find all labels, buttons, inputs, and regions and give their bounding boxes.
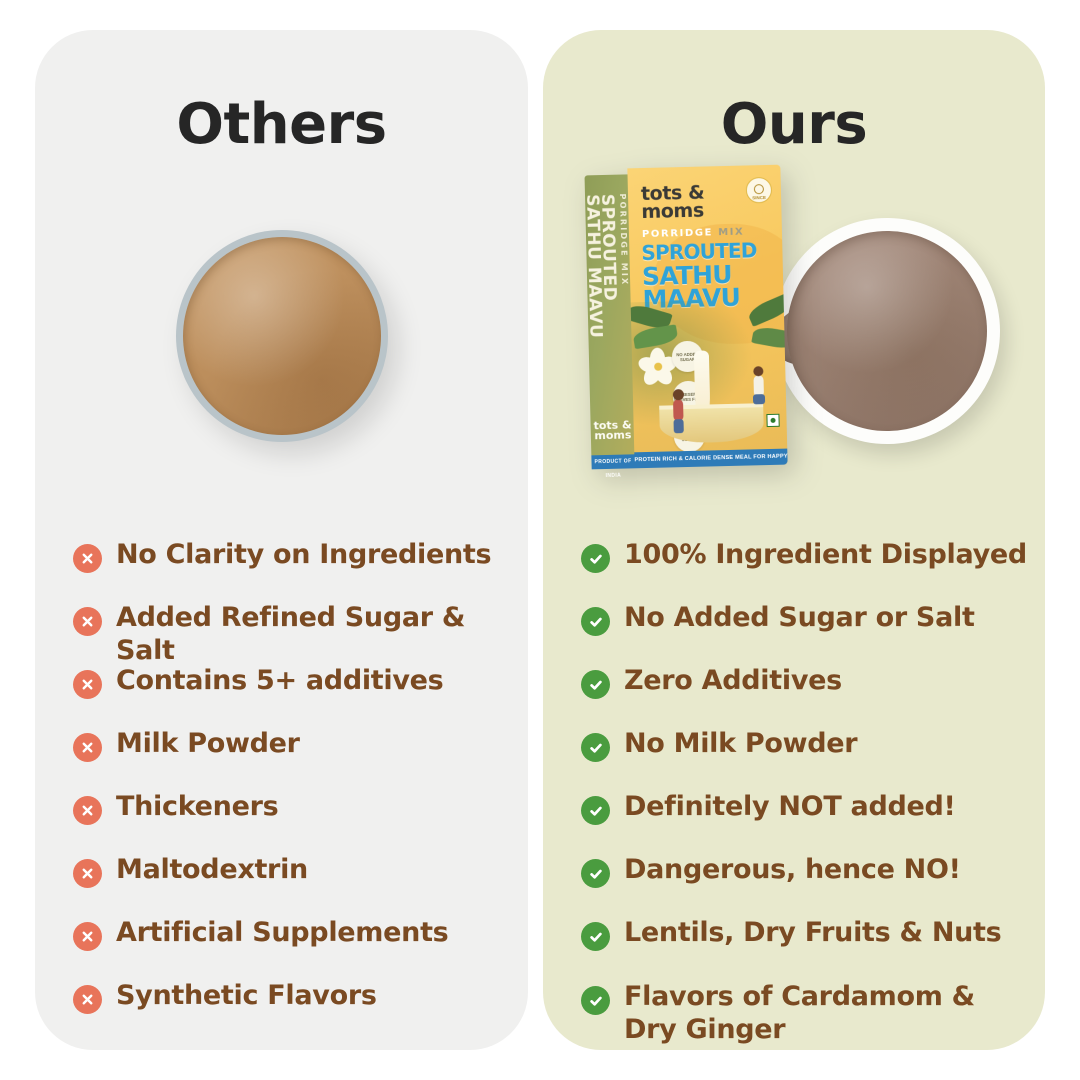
- spine-line2: SATHU MAAVU: [582, 194, 606, 339]
- cross-icon: [73, 670, 102, 699]
- spine-title: PORRIDGE MIX SPROUTED SATHU MAAVU: [584, 193, 635, 394]
- cross-icon: [73, 922, 102, 951]
- vegetarian-mark-icon: [766, 414, 779, 427]
- list-item: Milk Powder: [73, 727, 528, 790]
- list-item-label: Lentils, Dry Fruits & Nuts: [624, 916, 1001, 949]
- porridge-texture: [183, 237, 381, 435]
- list-item: 100% Ingredient Displayed: [581, 538, 1045, 601]
- list-item: Dangerous, hence NO!: [581, 853, 1045, 916]
- list-item: Zero Additives: [581, 664, 1045, 727]
- list-item: Lentils, Dry Fruits & Nuts: [581, 916, 1045, 979]
- list-item: Artificial Supplements: [73, 916, 528, 979]
- list-item-label: Thickeners: [116, 790, 278, 823]
- brand-logo: tots & moms: [641, 184, 705, 222]
- heritage-seal-icon: SINCE: [746, 177, 773, 204]
- others-feature-list: No Clarity on Ingredients Added Refined …: [35, 538, 528, 1042]
- package-front-face: tots & moms SINCE PORRIDGE MIX SPROUTED …: [627, 165, 787, 469]
- list-item-label: Added Refined Sugar & Salt: [116, 601, 528, 667]
- bowl-top-view: [176, 230, 388, 442]
- list-item: Thickeners: [73, 790, 528, 853]
- cross-icon: [73, 544, 102, 573]
- served-porridge-bowl: [774, 218, 1000, 444]
- list-item-label: No Clarity on Ingredients: [116, 538, 491, 571]
- cross-icon: [73, 607, 102, 636]
- check-icon: [581, 733, 610, 762]
- porridge-swirl: [808, 234, 974, 392]
- cross-icon: [73, 733, 102, 762]
- list-item-label: Flavors of Cardamom & Dry Ginger: [624, 980, 976, 1046]
- others-panel: Others No Clarity on Ingredients Added R…: [35, 30, 528, 1050]
- list-item: Added Refined Sugar & Salt: [73, 601, 528, 664]
- spine-brand-line2: moms: [594, 428, 631, 442]
- comparison-infographic: Others No Clarity on Ingredients Added R…: [0, 0, 1080, 1080]
- list-item-label: Maltodextrin: [116, 853, 308, 886]
- list-item: Maltodextrin: [73, 853, 528, 916]
- list-item-label: Definitely NOT added!: [624, 790, 956, 823]
- list-item: No Milk Powder: [581, 727, 1045, 790]
- brand-line2: moms: [641, 200, 704, 224]
- porridge-texture: [787, 231, 987, 431]
- list-item-label: Milk Powder: [116, 727, 300, 760]
- seal-label: SINCE: [752, 195, 766, 200]
- boy-illustration: [753, 375, 764, 397]
- list-item-label: No Added Sugar or Salt: [624, 601, 975, 634]
- spine-footer-text: PRODUCT OF INDIA: [591, 454, 634, 469]
- list-item: Flavors of Cardamom & Dry Ginger: [581, 980, 1045, 1046]
- cross-icon: [73, 985, 102, 1014]
- list-item: Contains 5+ additives: [73, 664, 528, 727]
- check-icon: [581, 859, 610, 888]
- list-item: No Added Sugar or Salt: [581, 601, 1045, 664]
- list-item-label: 100% Ingredient Displayed: [624, 538, 1027, 571]
- ours-feature-list: 100% Ingredient Displayed No Added Sugar…: [543, 538, 1045, 1046]
- check-icon: [581, 670, 610, 699]
- list-item-label: No Milk Powder: [624, 727, 857, 760]
- list-item-label: Synthetic Flavors: [116, 979, 377, 1012]
- check-icon: [581, 796, 610, 825]
- check-icon: [581, 986, 610, 1015]
- list-item: Definitely NOT added!: [581, 790, 1045, 853]
- cross-icon: [73, 859, 102, 888]
- list-item-label: Zero Additives: [624, 664, 842, 697]
- cross-icon: [73, 796, 102, 825]
- kicker-mix: MIX: [718, 227, 744, 239]
- check-icon: [581, 922, 610, 951]
- kicker-word: PORRIDGE: [642, 227, 713, 240]
- product-package: PORRIDGE MIX SPROUTED SATHU MAAVU tots &…: [584, 165, 787, 470]
- list-item-label: Dangerous, hence NO!: [624, 853, 961, 886]
- check-icon: [581, 544, 610, 573]
- leaf-icon: [751, 325, 787, 351]
- seal-dot-icon: [754, 184, 764, 194]
- girl-illustration: [673, 399, 684, 421]
- list-item-label: Contains 5+ additives: [116, 664, 443, 697]
- list-item-label: Artificial Supplements: [116, 916, 448, 949]
- package-bottom-banner: PROTEIN RICH & CALORIE DENSE MEAL FOR HA…: [634, 449, 787, 469]
- package-spine: PORRIDGE MIX SPROUTED SATHU MAAVU tots &…: [585, 174, 635, 469]
- list-item: Synthetic Flavors: [73, 979, 528, 1042]
- list-item: No Clarity on Ingredients: [73, 538, 528, 601]
- product-hero-image: PORRIDGE MIX SPROUTED SATHU MAAVU tots &…: [543, 30, 1045, 500]
- ours-panel: Ours PORRIDGE MIX SPROUTED SATHU MAAVU: [543, 30, 1045, 1050]
- package-illustration: NO ADDED SUGAR PRESER- VATIVES FREE NO M…: [631, 299, 788, 453]
- others-panel-title: Others: [35, 92, 528, 157]
- check-icon: [581, 607, 610, 636]
